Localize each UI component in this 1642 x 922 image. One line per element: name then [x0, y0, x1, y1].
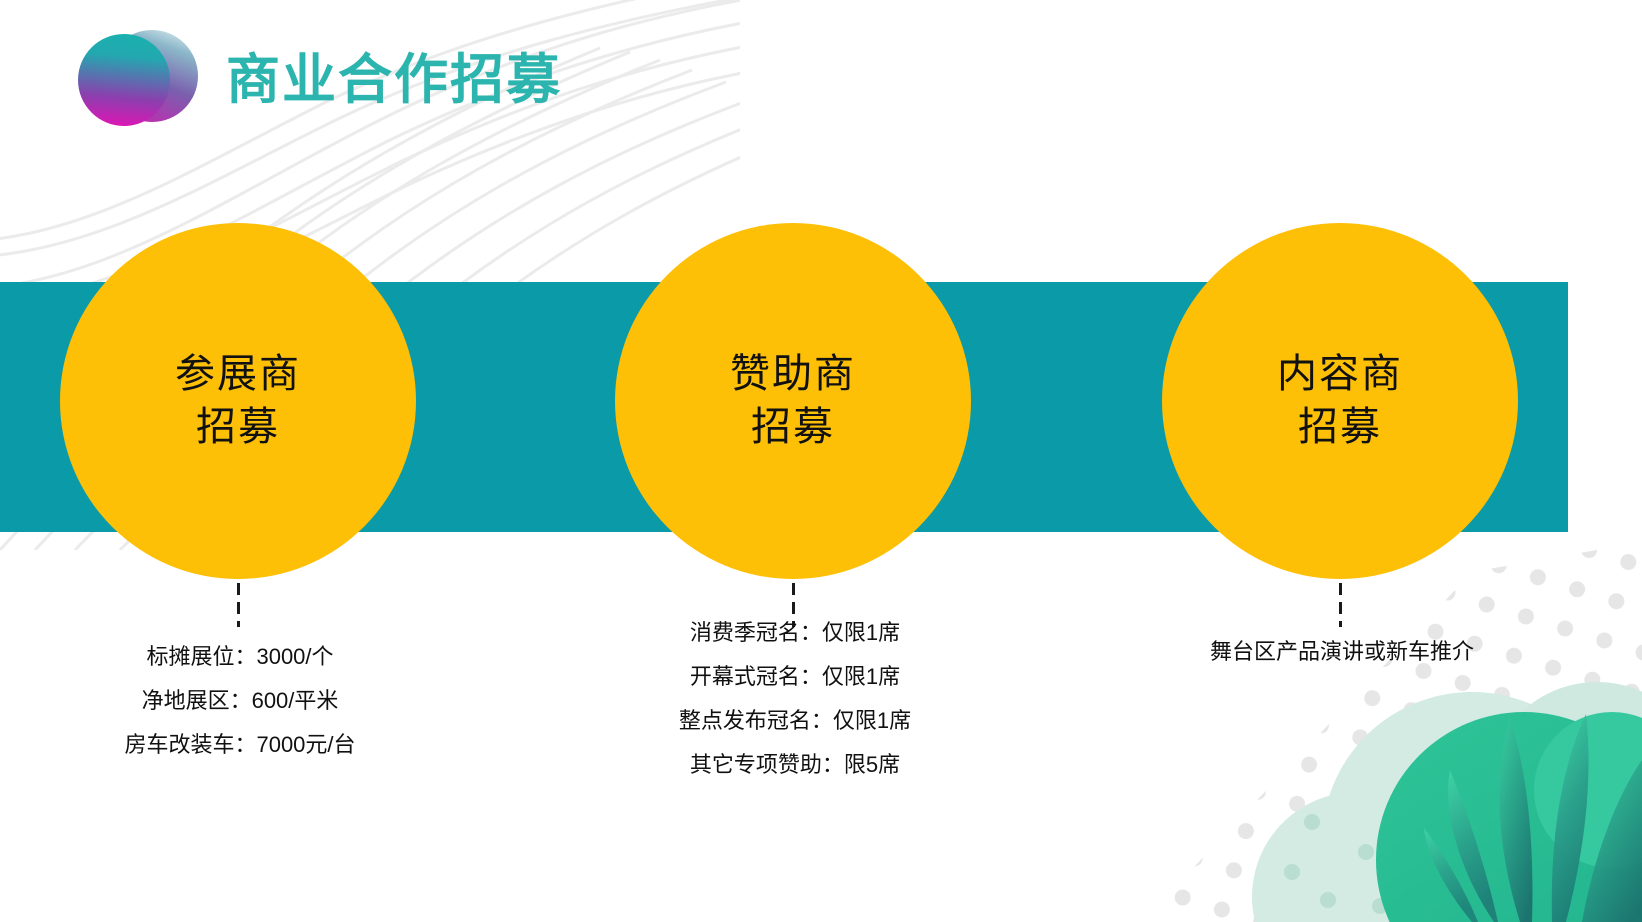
detail-line: 净地展区：600/平米	[10, 690, 470, 712]
detail-list-sponsor: 消费季冠名：仅限1席 开幕式冠名：仅限1席 整点发布冠名：仅限1席 其它专项赞助…	[565, 622, 1025, 776]
page-title: 商业合作招募	[226, 53, 562, 107]
brand-logo-icon	[78, 20, 198, 140]
detail-line: 整点发布冠名：仅限1席	[565, 710, 1025, 732]
column-sponsor: 赞助商 招募 消费季冠名：仅限1席 开幕式冠名：仅限1席 整点发布冠名：仅限1席…	[565, 0, 1025, 922]
detail-line: 消费季冠名：仅限1席	[565, 622, 1025, 644]
detail-line: 标摊展位：3000/个	[10, 646, 470, 668]
detail-line: 其它专项赞助：限5席	[565, 754, 1025, 776]
circle-title-line-1: 赞助商	[730, 348, 856, 401]
detail-list-exhibitor: 标摊展位：3000/个 净地展区：600/平米 房车改装车：7000元/台	[10, 646, 470, 756]
circle-title-line-2: 招募	[751, 401, 835, 454]
circle-title-line-1: 参展商	[175, 348, 301, 401]
slide-header: 商业合作招募	[0, 0, 562, 160]
detail-list-content-provider: 舞台区产品演讲或新车推介	[1112, 641, 1572, 663]
circle-exhibitor[interactable]: 参展商 招募	[60, 223, 416, 579]
circle-sponsor[interactable]: 赞助商 招募	[615, 223, 971, 579]
logo-lobe-front	[78, 34, 170, 126]
circle-title-line-1: 内容商	[1277, 348, 1403, 401]
dashed-connector	[237, 583, 240, 629]
detail-line: 舞台区产品演讲或新车推介	[1112, 641, 1572, 663]
circle-title-line-2: 招募	[1298, 401, 1382, 454]
circle-title-line-2: 招募	[196, 401, 280, 454]
dashed-connector	[1339, 583, 1342, 629]
circle-content-provider[interactable]: 内容商 招募	[1162, 223, 1518, 579]
slide-canvas: 商业合作招募 参展商 招募 标摊展位：3000/个 净地展区：600/平米 房车…	[0, 0, 1642, 922]
detail-line: 房车改装车：7000元/台	[10, 734, 470, 756]
detail-line: 开幕式冠名：仅限1席	[565, 666, 1025, 688]
column-content-provider: 内容商 招募 舞台区产品演讲或新车推介	[1112, 0, 1572, 922]
